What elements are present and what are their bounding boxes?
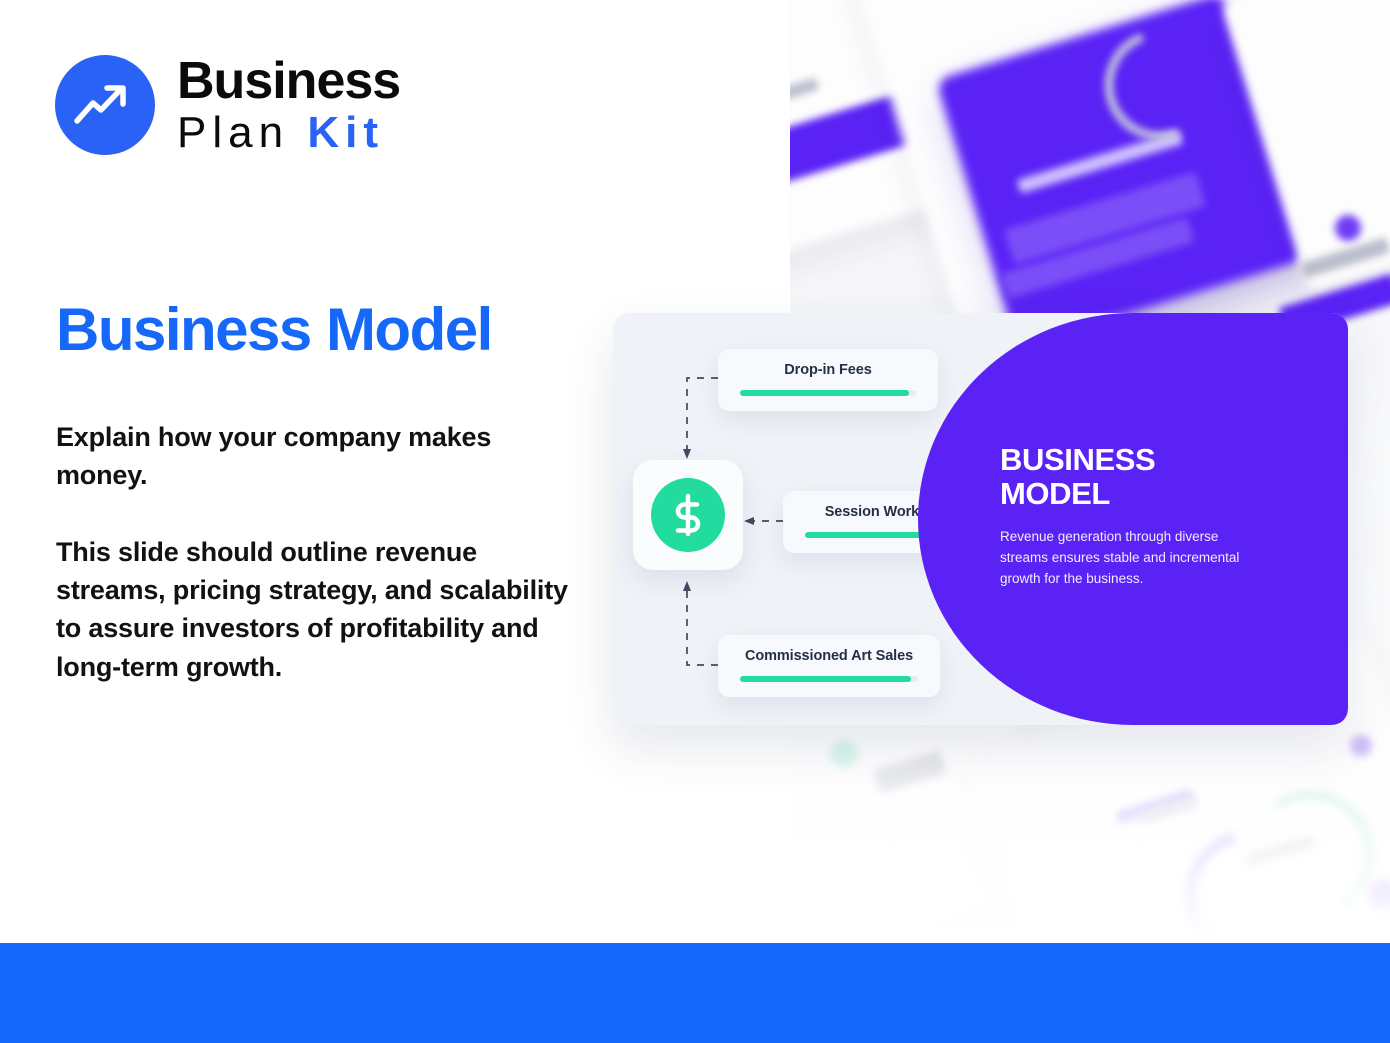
bg-ring bbox=[1161, 806, 1339, 943]
revenue-stream-card[interactable]: Drop-in Fees bbox=[718, 349, 938, 411]
body-paragraph-1: Explain how your company makes money. bbox=[56, 418, 576, 495]
revenue-hub[interactable] bbox=[633, 460, 743, 570]
brand-logo[interactable]: Business Plan Kit bbox=[55, 55, 400, 155]
bg-dot bbox=[1368, 880, 1390, 910]
revenue-stream-progress-fill bbox=[740, 676, 911, 682]
revenue-stream-progress-fill bbox=[740, 390, 909, 396]
bg-accent-line bbox=[1138, 796, 1199, 824]
bg-ring bbox=[1087, 12, 1233, 158]
revenue-stream-progress-track bbox=[740, 676, 918, 682]
brand-name-line2: Plan Kit bbox=[177, 111, 400, 155]
panel-description: Revenue generation through diverse strea… bbox=[1000, 527, 1260, 590]
bg-accent-line bbox=[1300, 237, 1390, 279]
brand-wordmark: Business Plan Kit bbox=[177, 55, 400, 155]
bg-dot bbox=[1350, 735, 1372, 757]
footer-band bbox=[0, 943, 1390, 1043]
bg-accent-line bbox=[1004, 172, 1206, 265]
page-title: Business Model bbox=[56, 295, 492, 364]
bg-accent-line bbox=[1245, 835, 1315, 867]
bg-accent-line bbox=[1017, 130, 1184, 193]
revenue-stream-label: Drop-in Fees bbox=[740, 362, 916, 378]
dollar-sign-icon bbox=[651, 478, 725, 552]
growth-chart-circle-icon bbox=[55, 55, 155, 155]
brand-name-plan: Plan bbox=[177, 108, 289, 157]
bg-dot bbox=[1335, 215, 1361, 241]
bg-dot bbox=[830, 740, 858, 768]
bg-accent-line bbox=[1115, 789, 1195, 825]
bg-accent-line bbox=[873, 750, 947, 793]
panel-title: BUSINESS MODEL bbox=[1000, 443, 1260, 511]
business-model-panel: BUSINESS MODEL Revenue generation throug… bbox=[918, 313, 1348, 725]
bg-accent-line bbox=[1000, 217, 1194, 299]
body-paragraph-2: This slide should outline revenue stream… bbox=[56, 533, 576, 686]
panel-content: BUSINESS MODEL Revenue generation throug… bbox=[1000, 443, 1260, 590]
brand-name-line1: Business bbox=[177, 55, 400, 107]
bg-purple-card bbox=[936, 0, 1305, 348]
revenue-stream-progress-track bbox=[740, 390, 916, 396]
bg-accent-band bbox=[790, 82, 952, 211]
revenue-stream-card[interactable]: Commissioned Art Sales bbox=[718, 635, 940, 697]
bg-accent-line bbox=[790, 78, 819, 125]
bg-thumb bbox=[847, 0, 1352, 359]
slide-canvas: Business Plan Kit Business Model Explain… bbox=[0, 0, 1390, 1043]
bg-thumb bbox=[1222, 0, 1390, 291]
bg-ring bbox=[1235, 780, 1386, 931]
brand-name-kit: Kit bbox=[307, 108, 384, 157]
revenue-stream-label: Commissioned Art Sales bbox=[740, 648, 918, 664]
slide-body-copy: Explain how your company makes money. Th… bbox=[56, 418, 576, 686]
business-model-showcase-card: Drop-in Fees Session Workshops Commissio… bbox=[613, 313, 1348, 725]
bg-thumb bbox=[790, 0, 1035, 272]
